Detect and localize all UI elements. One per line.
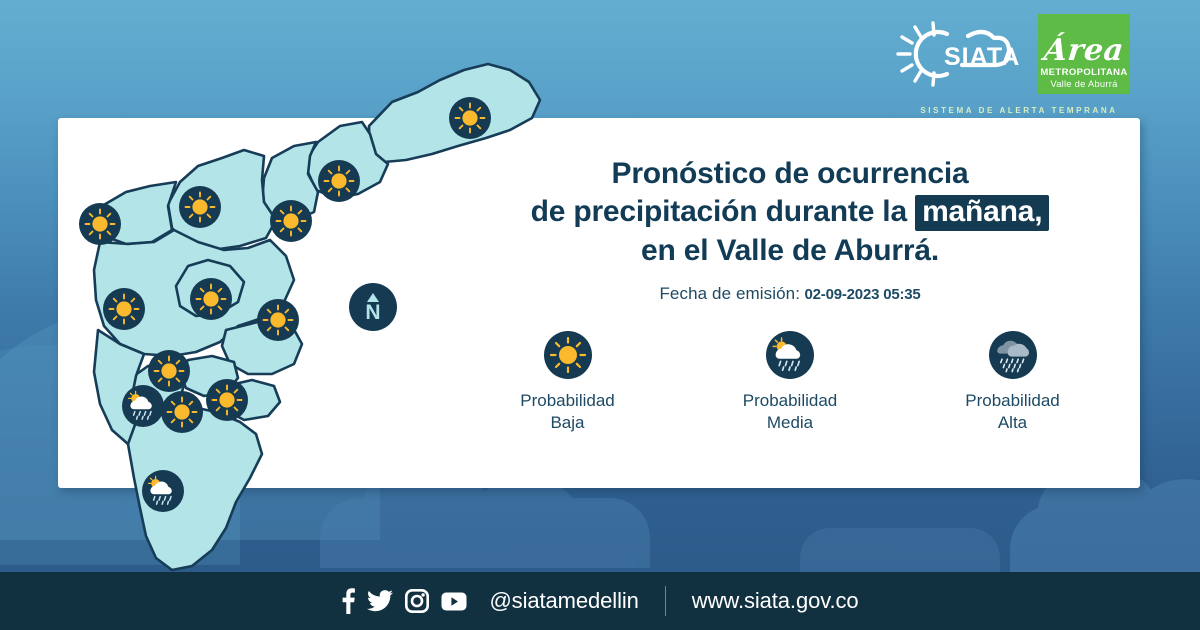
legend-baja-line2: Baja [520,412,615,434]
legend-alta-line1: Probabilidad [965,390,1060,412]
twitter-icon[interactable] [367,590,393,612]
map-marker-baja[interactable] [270,200,312,242]
map-marker-baja[interactable] [449,97,491,139]
headline-highlight: mañana, [915,195,1049,231]
map-marker-baja[interactable] [190,278,232,320]
headline-line-2: de precipitación durante la mañana, [470,193,1110,231]
map-marker-baja[interactable] [148,350,190,392]
social-handle[interactable]: @siatamedellin [489,588,638,614]
map-marker-baja[interactable] [103,288,145,330]
legend-media-line2: Media [743,412,838,434]
map-marker-baja[interactable] [161,391,203,433]
legend-item-baja: Probabilidad Baja [480,330,655,434]
legend-item-media: Probabilidad Media [703,330,878,434]
legend-label-media: Probabilidad Media [743,390,838,434]
instagram-icon[interactable] [405,589,429,613]
area-script-text: Área [1043,36,1126,66]
legend-baja-line1: Probabilidad [520,390,615,412]
svg-text:SIATA: SIATA [944,43,1020,71]
footer-bar: @siatamedellin www.siata.gov.co [0,572,1200,630]
compass-north-icon: N [349,283,397,331]
infographic-root: SIATA Área METROPOLITANA Valle de Aburrá… [0,0,1200,630]
background-cloud-center [800,528,1000,576]
legend-label-alta: Probabilidad Alta [965,390,1060,434]
social-icons [341,588,467,614]
headline-line-1: Pronóstico de ocurrencia [470,155,1110,193]
legend-alta-line2: Alta [965,412,1060,434]
area-metropolitana-line2: Valle de Aburrá [1050,79,1117,90]
page-title: Pronóstico de ocurrencia de precipitació… [470,155,1110,270]
siata-tagline: SISTEMA DE ALERTA TEMPRANA [904,106,1134,115]
header-logos: SIATA Área METROPOLITANA Valle de Aburrá… [890,14,1140,109]
sun-cloud-rain-icon [765,330,815,380]
map-marker-baja[interactable] [79,203,121,245]
background-cloud-right [1010,505,1200,575]
footer-divider [665,586,666,616]
map-marker-baja[interactable] [179,186,221,228]
emission-date-value: 02-09-2023 05:35 [805,286,921,303]
cloud-rain-icon [988,330,1038,380]
map-marker-media[interactable] [142,470,184,512]
emission-date-label: Fecha de emisión: [659,284,800,303]
valle-de-aburra-map: N [40,30,560,600]
map-marker-baja[interactable] [206,379,248,421]
youtube-icon[interactable] [441,592,467,611]
headline-line-3: en el Valle de Aburrá. [470,232,1110,270]
svg-text:N: N [365,301,380,324]
map-marker-baja[interactable] [318,160,360,202]
siata-logo: SIATA [890,18,1030,90]
headline-line-2-prefix: de precipitación durante la [531,195,916,228]
website-url[interactable]: www.siata.gov.co [692,588,859,614]
forecast-text-panel: Pronóstico de ocurrencia de precipitació… [470,155,1110,304]
legend-item-alta: Probabilidad Alta [925,330,1100,434]
area-metropolitana-logo: Área METROPOLITANA Valle de Aburrá [1038,14,1130,94]
sun-icon [543,330,593,380]
legend-media-line1: Probabilidad [743,390,838,412]
probability-legend: Probabilidad Baja [480,330,1100,434]
map-marker-baja[interactable] [257,299,299,341]
facebook-icon[interactable] [341,588,355,614]
emission-date: Fecha de emisión: 02-09-2023 05:35 [470,284,1110,304]
legend-label-baja: Probabilidad Baja [520,390,615,434]
map-marker-media[interactable] [122,385,164,427]
area-metropolitana-line1: METROPOLITANA [1040,68,1127,79]
